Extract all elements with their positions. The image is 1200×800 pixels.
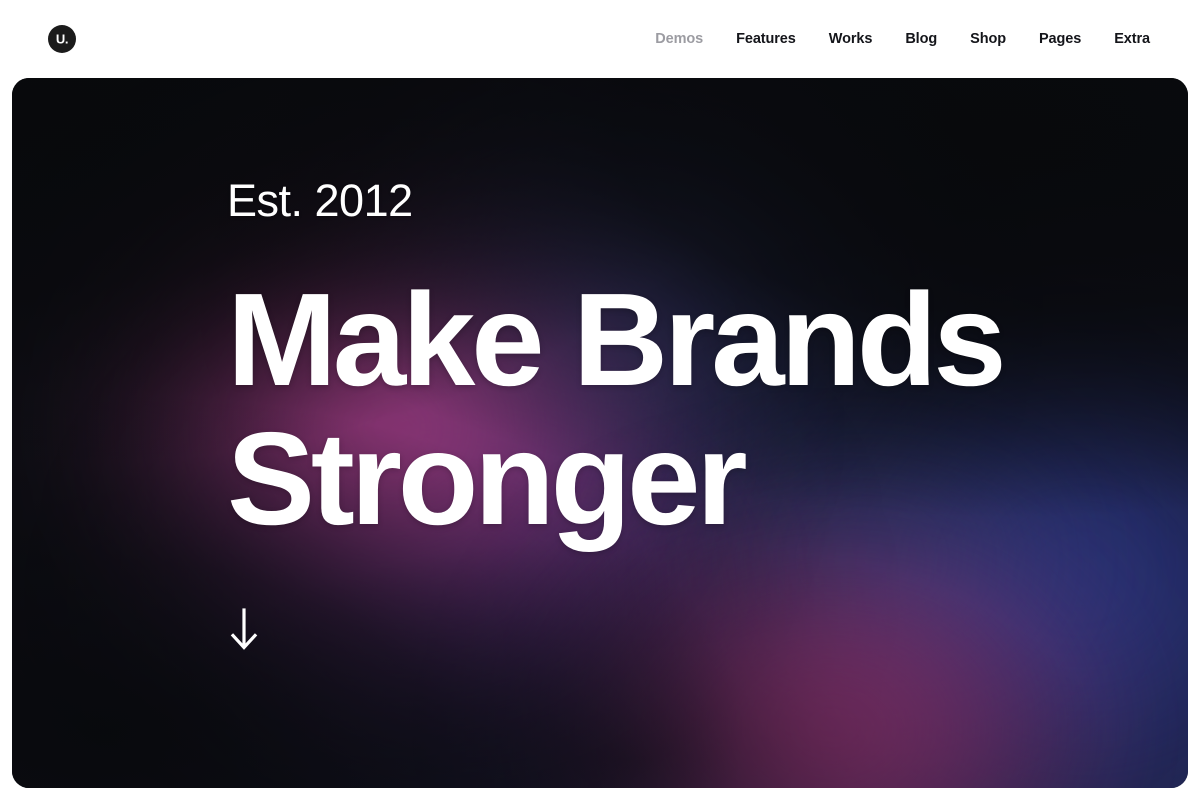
nav-item-demos[interactable]: Demos: [655, 32, 703, 47]
hero-content: Est. 2012 Make Brands Stronger: [227, 178, 1147, 654]
nav-item-extra[interactable]: Extra: [1114, 32, 1150, 47]
nav-item-works[interactable]: Works: [829, 32, 873, 47]
brand-logo-icon[interactable]: U.: [48, 25, 76, 53]
nav-item-shop[interactable]: Shop: [970, 32, 1006, 47]
hero-title-line-2: Stronger: [227, 410, 1147, 549]
hero-title-line-1: Make Brands: [227, 271, 1147, 410]
page-root: U. Demos Features Works Blog Shop Pages …: [0, 0, 1200, 800]
nav-item-features[interactable]: Features: [736, 32, 796, 47]
brand-logo-mark: U.: [56, 32, 68, 45]
hero-section: Est. 2012 Make Brands Stronger: [12, 78, 1188, 788]
arrow-down-icon[interactable]: [227, 608, 267, 654]
hero-eyebrow: Est. 2012: [227, 178, 1147, 223]
nav-item-pages[interactable]: Pages: [1039, 32, 1081, 47]
nav-item-blog[interactable]: Blog: [905, 32, 937, 47]
main-nav: Demos Features Works Blog Shop Pages Ext…: [655, 32, 1150, 47]
site-header: U. Demos Features Works Blog Shop Pages …: [0, 0, 1200, 78]
hero-title: Make Brands Stronger: [227, 271, 1147, 548]
